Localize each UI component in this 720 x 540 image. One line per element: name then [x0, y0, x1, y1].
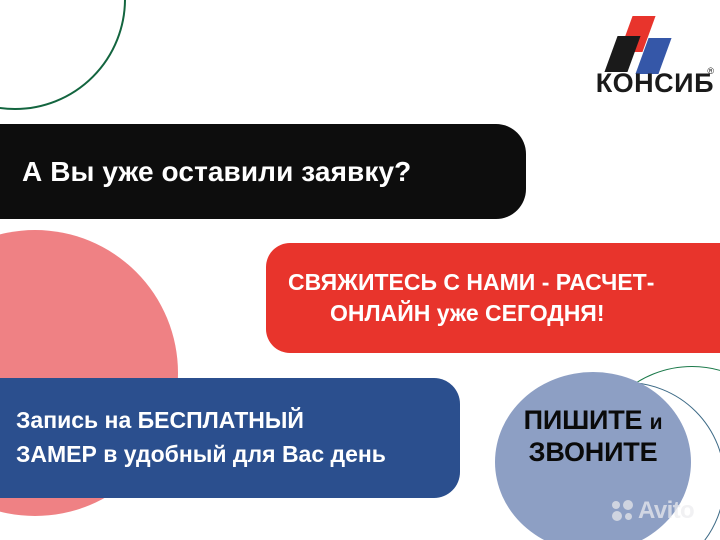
call-label: ЗВОНИТЕ: [495, 436, 691, 468]
contact-us-banner: СВЯЖИТЕСЬ С НАМИ - РАСЧЕТ- ОНЛАЙН уже СЕ…: [266, 243, 720, 353]
free-measurement-banner-line-1: Запись на БЕСПЛАТНЫЙ: [16, 404, 304, 438]
konsib-logo: КОНСИБ ®: [566, 16, 714, 102]
avito-watermark: Avito: [612, 497, 694, 525]
registered-trademark-icon: ®: [707, 66, 714, 76]
conjunction-label: и: [650, 411, 663, 434]
green-ring-top-left-decoration: [0, 0, 126, 110]
contact-us-banner-line-2: ОНЛАЙН уже СЕГОДНЯ!: [288, 298, 605, 329]
write-and-call-callout: ПИШИТЕ и ЗВОНИТЕ: [495, 404, 691, 469]
question-banner: А Вы уже оставили заявку?: [0, 124, 526, 219]
logo-wordmark: КОНСИБ: [566, 68, 714, 99]
free-measurement-banner: Запись на БЕСПЛАТНЫЙ ЗАМЕР в удобный для…: [0, 378, 460, 498]
question-banner-text: А Вы уже оставили заявку?: [22, 156, 502, 188]
write-label: ПИШИТЕ: [524, 405, 643, 435]
logo-mark-group: [566, 16, 714, 66]
write-and-call-line-1: ПИШИТЕ и: [495, 404, 691, 436]
avito-dots-icon: [612, 500, 636, 522]
contact-us-banner-line-1: СВЯЖИТЕСЬ С НАМИ - РАСЧЕТ-: [288, 267, 654, 298]
avito-wordmark: Avito: [638, 497, 694, 525]
promo-banner-canvas: КОНСИБ ® А Вы уже оставили заявку? СВЯЖИ…: [0, 0, 720, 540]
free-measurement-banner-line-2: ЗАМЕР в удобный для Вас день: [16, 438, 386, 472]
logo-parallelogram-black-icon: [604, 36, 640, 72]
